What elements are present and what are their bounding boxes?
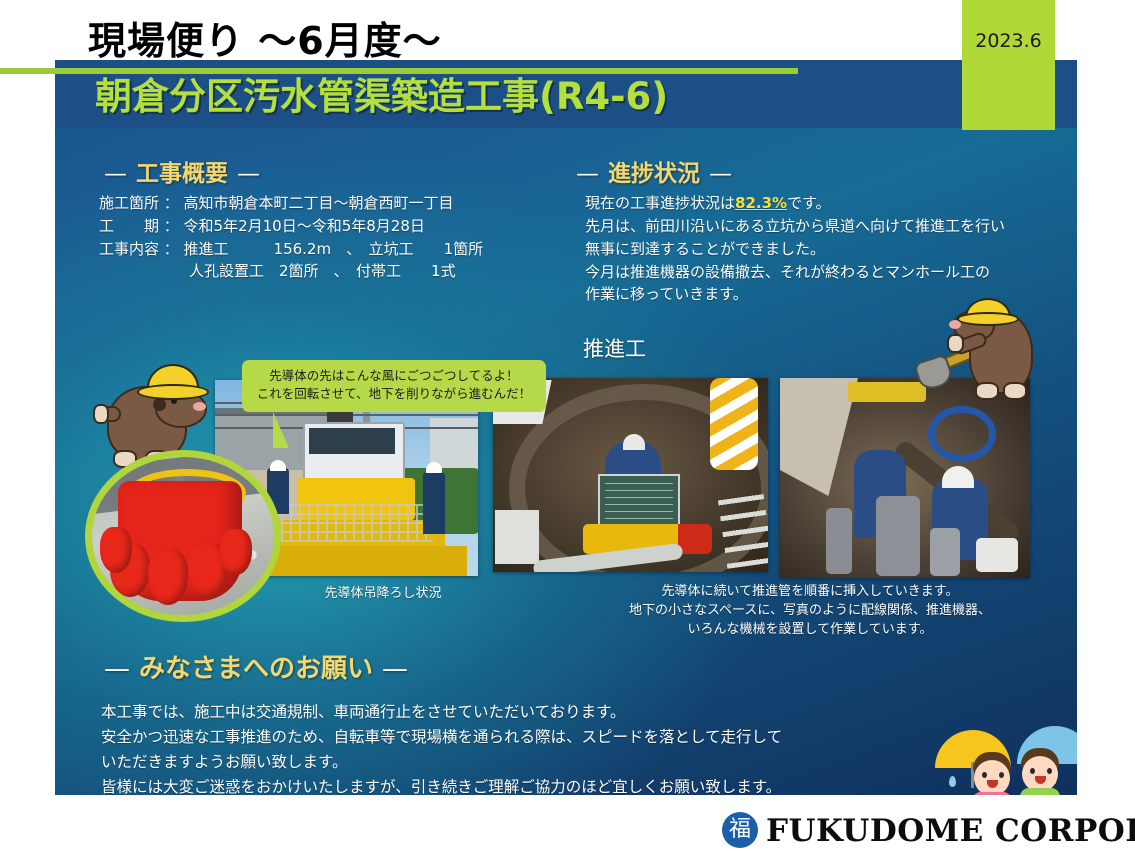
progress-post-text: です。: [787, 194, 831, 212]
main-panel: 朝倉分区汚水管渠築造工事(R4-6) —工事概要— 施工箇所 ： 高知市朝倉本町…: [55, 60, 1077, 795]
company-name: FUKUDOME CORPORATION: [766, 813, 1135, 849]
dash-left-icon: —: [567, 161, 608, 187]
photo-drill-head-circle: [85, 450, 281, 622]
photo-shaft-pipes: [780, 378, 1030, 578]
project-title: 朝倉分区汚水管渠築造工事(R4-6): [95, 66, 668, 120]
mole-mascot-shovel-icon: [917, 298, 1035, 404]
progress-heading-label: 進捗状況: [608, 161, 700, 187]
green-divider-rule: [0, 68, 798, 74]
dash-left-icon: —: [95, 161, 136, 187]
overview-text: 施工箇所 ： 高知市朝倉本町二丁目～朝倉西町一丁目 工 期 ： 令和5年2月10…: [99, 192, 483, 283]
date-badge: 2023.6: [962, 0, 1055, 130]
speech-bubble: 先導体の先はこんな風にごつごつしてるよ！ これを回転させて、地下を削りながら進む…: [242, 360, 546, 412]
dash-right-icon: —: [373, 654, 417, 684]
photo-caption-left: 先導体吊降ろし状況: [283, 585, 483, 604]
page-title: 現場便り ～6月度～: [88, 10, 442, 65]
kids-umbrella-illustration-icon: [933, 722, 1077, 795]
request-heading-label: みなさまへのお願い: [139, 654, 373, 684]
dash-right-icon: —: [228, 161, 269, 187]
overview-heading: —工事概要—: [95, 154, 269, 188]
photo-caption-right: 先導体に続いて推進管を順番に挿入していきます。 地下の小さなスペースに、写真のよ…: [600, 583, 1020, 640]
overview-heading-label: 工事概要: [136, 161, 228, 187]
request-heading: —みなさまへのお願い—: [95, 648, 417, 685]
speech-bubble-tail: [273, 412, 299, 448]
progress-pre-text: 現在の工事進捗状況は: [585, 194, 735, 212]
fukudome-logo-icon: 福: [722, 812, 758, 848]
dash-left-icon: —: [95, 654, 139, 684]
progress-heading: —進捗状況—: [567, 154, 741, 188]
progress-percent: 82.3%: [735, 194, 787, 212]
request-text: 本工事では、施工中は交通規制、車両通行止をさせていただいております。 安全かつ迅…: [101, 700, 782, 795]
speech-bubble-text: 先導体の先はこんな風にごつごつしてるよ！ これを回転させて、地下を削りながら進む…: [250, 367, 538, 403]
photos-section-label: 推進工: [583, 333, 646, 363]
date-badge-label: 2023.6: [962, 30, 1055, 52]
progress-text-rest: 先月は、前田川沿いにある立坑から県道へ向けて推進工を行い 無事に到達することがで…: [585, 215, 1005, 306]
dash-right-icon: —: [700, 161, 741, 187]
progress-line-1: 現在の工事進捗状況は82.3%です。: [585, 192, 831, 215]
